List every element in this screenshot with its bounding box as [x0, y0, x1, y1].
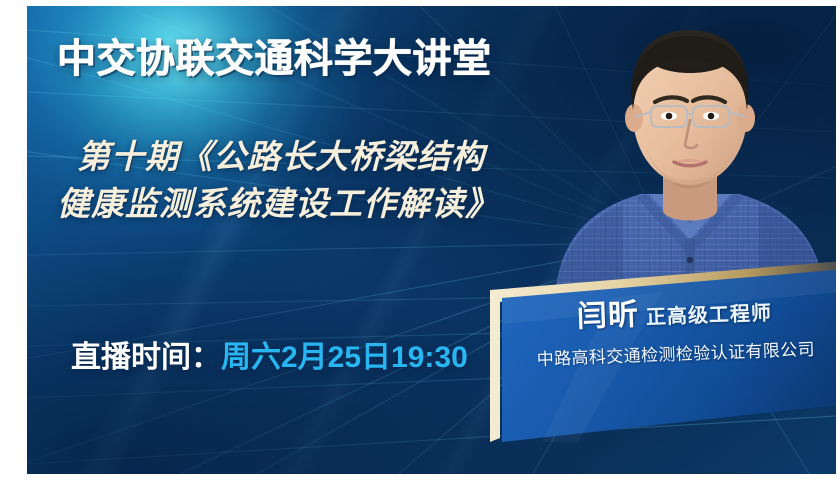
namecard-text-group: 闫昕正高级工程师 中路高科交通检测检验认证有限公司	[496, 291, 836, 371]
poster-canvas: 闫昕正高级工程师 中路高科交通检测检验认证有限公司 中交协联交通科学大讲堂 第十…	[27, 6, 836, 474]
speaker-title: 正高级工程师	[646, 302, 773, 329]
subtitle-line-2: 健康监测系统建设工作解读》	[49, 181, 594, 228]
poster-stage: 闫昕正高级工程师 中路高科交通检测检验认证有限公司 中交协联交通科学大讲堂 第十…	[0, 0, 840, 480]
broadcast-time-value: 周六2月25日19:30	[221, 341, 468, 374]
page-title: 中交协联交通科学大讲堂	[57, 28, 492, 84]
session-subtitle: 第十期《公路长大桥梁结构 健康监测系统建设工作解读》	[49, 134, 594, 228]
broadcast-time-label: 直播时间：	[71, 341, 221, 374]
subtitle-line-1: 第十期《公路长大桥梁结构	[49, 134, 594, 181]
speaker-name: 闫昕	[576, 298, 639, 333]
broadcast-time: 直播时间：周六2月25日19:30	[71, 332, 468, 376]
